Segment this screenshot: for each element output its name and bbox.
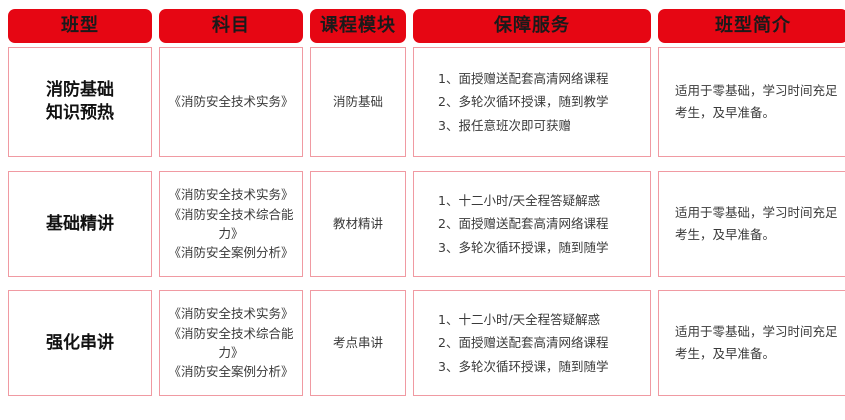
cell-class-type: 消防基础 知识预热 (8, 47, 152, 157)
list-item: 3、多轮次循环授课，随到随学 (438, 355, 644, 378)
course-class-comparison-table: 班型 科目 课程模块 保障服务 班型简介 消防基础 知识预热 《消防安全技术实务… (0, 9, 845, 420)
class-type-label: 基础精讲 (46, 213, 114, 236)
table-row: 消防基础 知识预热 《消防安全技术实务》 消防基础 1、面授赠送配套高清网络课程… (0, 47, 845, 157)
subject-label: 《消防安全技术实务》 《消防安全技术综合能力》 《消防安全案例分析》 (166, 304, 296, 382)
cell-guarantee-service: 1、十二小时/天全程答疑解惑 2、面授赠送配套高清网络课程 3、多轮次循环授课，… (413, 290, 651, 396)
column-header-class-intro: 班型简介 (658, 9, 845, 43)
column-header-guarantee-service: 保障服务 (413, 9, 651, 43)
table-row: 强化串讲 《消防安全技术实务》 《消防安全技术综合能力》 《消防安全案例分析》 … (0, 290, 845, 396)
column-header-label: 科目 (212, 17, 250, 35)
class-intro-text: 适用于零基础，学习时间充足 考生，及早准备。 (665, 202, 841, 246)
list-item: 1、面授赠送配套高清网络课程 (438, 67, 644, 90)
cell-class-type: 基础精讲 (8, 171, 152, 277)
list-item: 1、十二小时/天全程答疑解惑 (438, 189, 644, 212)
column-header-class-type: 班型 (8, 9, 152, 43)
column-header-label: 班型 (61, 17, 99, 35)
cell-class-type: 强化串讲 (8, 290, 152, 396)
cell-course-module: 消防基础 (310, 47, 406, 157)
cell-subject: 《消防安全技术实务》 《消防安全技术综合能力》 《消防安全案例分析》 (159, 290, 303, 396)
cell-course-module: 教材精讲 (310, 171, 406, 277)
cell-guarantee-service: 1、面授赠送配套高清网络课程 2、多轮次循环授课，随到教学 3、报任意班次即可获… (413, 47, 651, 157)
column-header-subject: 科目 (159, 9, 303, 43)
class-intro-text: 适用于零基础，学习时间充足 考生，及早准备。 (665, 321, 841, 365)
list-item: 3、多轮次循环授课，随到随学 (438, 236, 644, 259)
cell-subject: 《消防安全技术实务》 (159, 47, 303, 157)
cell-class-intro: 适用于零基础，学习时间充足 考生，及早准备。 (658, 290, 845, 396)
list-item: 2、多轮次循环授课，随到教学 (438, 90, 644, 113)
course-module-label: 教材精讲 (333, 215, 383, 234)
course-module-label: 考点串讲 (333, 334, 383, 353)
cell-class-intro: 适用于零基础，学习时间充足 考生，及早准备。 (658, 171, 845, 277)
subject-label: 《消防安全技术实务》 (168, 92, 293, 111)
cell-course-module: 考点串讲 (310, 290, 406, 396)
table-header-row: 班型 科目 课程模块 保障服务 班型简介 (0, 9, 845, 43)
class-type-label: 强化串讲 (46, 332, 114, 355)
column-header-label: 保障服务 (494, 17, 570, 35)
list-item: 3、报任意班次即可获赠 (438, 114, 644, 137)
course-module-label: 消防基础 (333, 93, 383, 112)
list-item: 1、十二小时/天全程答疑解惑 (438, 308, 644, 331)
column-header-course-module: 课程模块 (310, 9, 406, 43)
table-row: 基础精讲 《消防安全技术实务》 《消防安全技术综合能力》 《消防安全案例分析》 … (0, 171, 845, 277)
class-type-label: 消防基础 知识预热 (46, 79, 114, 125)
cell-subject: 《消防安全技术实务》 《消防安全技术综合能力》 《消防安全案例分析》 (159, 171, 303, 277)
column-header-label: 课程模块 (320, 17, 396, 35)
list-item: 2、面授赠送配套高清网络课程 (438, 212, 644, 235)
class-intro-text: 适用于零基础，学习时间充足 考生，及早准备。 (665, 80, 841, 124)
subject-label: 《消防安全技术实务》 《消防安全技术综合能力》 《消防安全案例分析》 (166, 185, 296, 263)
guarantee-service-list: 1、十二小时/天全程答疑解惑 2、面授赠送配套高清网络课程 3、多轮次循环授课，… (420, 189, 644, 258)
cell-guarantee-service: 1、十二小时/天全程答疑解惑 2、面授赠送配套高清网络课程 3、多轮次循环授课，… (413, 171, 651, 277)
guarantee-service-list: 1、面授赠送配套高清网络课程 2、多轮次循环授课，随到教学 3、报任意班次即可获… (420, 67, 644, 136)
cell-class-intro: 适用于零基础，学习时间充足 考生，及早准备。 (658, 47, 845, 157)
list-item: 2、面授赠送配套高清网络课程 (438, 331, 644, 354)
guarantee-service-list: 1、十二小时/天全程答疑解惑 2、面授赠送配套高清网络课程 3、多轮次循环授课，… (420, 308, 644, 377)
column-header-label: 班型简介 (715, 17, 791, 35)
